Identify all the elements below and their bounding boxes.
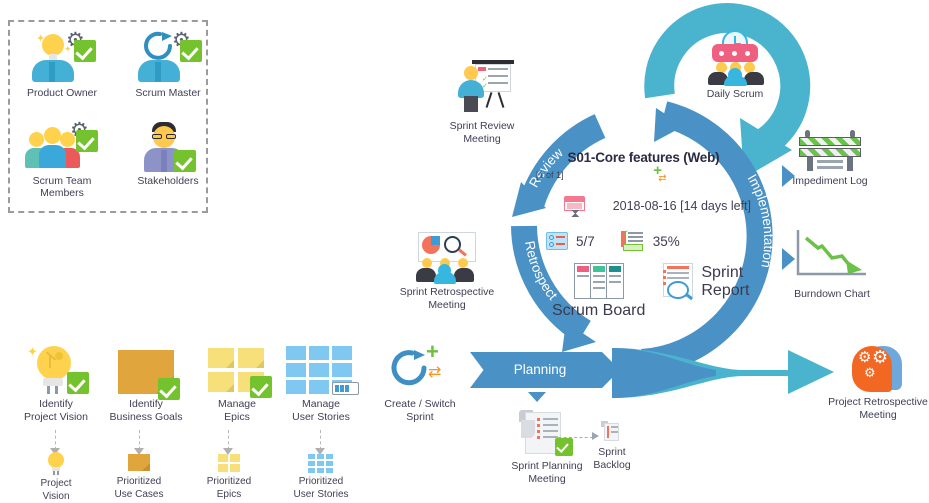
head-gears-icon: ⚙ ⚙ ⚙ — [850, 344, 906, 394]
role-stakeholders[interactable]: Stakeholders — [118, 120, 218, 187]
artifact-prioritized-use-cases[interactable]: Prioritized Use Cases — [88, 452, 190, 501]
planning-banner[interactable]: Planning — [470, 352, 620, 388]
small-lightbulb-icon — [41, 452, 71, 476]
status-check-badge — [74, 40, 96, 62]
planning-doc-icon — [517, 408, 577, 458]
scrum-board-node[interactable]: Scrum Board — [552, 263, 645, 320]
scrum-process-diagram: ✦ ✦ ⚙ Product Owner ⚙ Scrum Master — [0, 0, 929, 497]
scrum-master-icon: ⚙ — [130, 28, 206, 84]
scrum-team-members-icon: ⚙ — [24, 120, 100, 172]
artifact-prioritized-epics[interactable]: Prioritized Epics — [180, 452, 278, 501]
planning-down-arrow — [528, 392, 546, 402]
artifact-label: Prioritized User Stories — [270, 476, 372, 501]
backlog-step-identify-business-goals[interactable]: Identify Business Goals — [95, 344, 197, 423]
progress-badge — [332, 382, 359, 395]
user-stories-grid-icon — [282, 344, 360, 396]
sprint-info-panel: S01-Core features (Web) [1 of 1] + ⇄ 201… — [536, 150, 751, 320]
backlog-step-label: Identify Business Goals — [95, 398, 197, 423]
sticky-note-icon — [110, 344, 182, 396]
backlog-step-label: Manage User Stories — [270, 398, 372, 423]
artifact-label: Prioritized Use Cases — [88, 476, 190, 501]
impediment-log-node[interactable]: Impediment Log — [775, 130, 885, 188]
status-check-badge — [67, 372, 89, 394]
sprint-date-row: 2018-08-16 [14 days left] — [536, 195, 751, 217]
sprint-backlog-icon — [599, 420, 625, 444]
sprint-retrospective-meeting-label: Sprint Retrospective Meeting — [388, 286, 506, 311]
sprint-review-meeting-label: Sprint Review Meeting — [430, 120, 534, 145]
status-check-badge — [158, 378, 180, 400]
role-label: Scrum Team Members — [12, 175, 112, 199]
status-check-badge — [76, 130, 98, 152]
sprint-backlog-label: Sprint Backlog — [580, 446, 644, 471]
project-retrospective-meeting-node[interactable]: ⚙ ⚙ ⚙ Project Retrospective Meeting — [828, 344, 928, 421]
presentation-icon: ✓ ✓ — [450, 58, 514, 118]
small-epics-icon — [216, 452, 242, 474]
role-scrum-master[interactable]: ⚙ Scrum Master — [118, 28, 218, 99]
progress-report-icon: ✓ — [621, 231, 645, 251]
status-check-badge — [174, 150, 196, 172]
add-switch-sprint-icon[interactable]: + ⇄ — [651, 167, 669, 183]
sprint-title: S01-Core features (Web) — [536, 150, 751, 165]
task-list-icon — [546, 232, 568, 250]
scrum-board-label: Scrum Board — [552, 302, 645, 320]
barrier-icon — [797, 130, 863, 172]
sprint-progress: 35% — [653, 234, 680, 249]
calendar-icon — [564, 195, 586, 217]
sprint-retrospective-meeting-node[interactable]: Sprint Retrospective Meeting — [388, 232, 506, 311]
product-owner-icon: ✦ ✦ ⚙ — [24, 28, 100, 84]
sprint-review-meeting-node[interactable]: ✓ ✓ Sprint Review Meeting — [430, 58, 534, 145]
role-product-owner[interactable]: ✦ ✦ ⚙ Product Owner — [12, 28, 112, 99]
backlog-step-label: Identify Project Vision — [6, 398, 106, 423]
role-scrum-team-members[interactable]: ⚙ Scrum Team Members — [12, 120, 112, 199]
epics-notes-icon — [202, 344, 272, 396]
flow-connector — [320, 430, 321, 450]
small-note-icon — [126, 452, 152, 474]
backlog-step-label: Create / Switch Sprint — [368, 398, 472, 423]
switch-sprint-icon: + ⇄ — [386, 344, 454, 396]
sprint-tasks-row: 5/7 — [546, 231, 595, 251]
sprint-report-label: Sprint Report — [701, 264, 749, 300]
burndown-chart-label: Burndown Chart — [778, 288, 886, 301]
role-label: Product Owner — [12, 87, 112, 99]
flow-connector — [139, 430, 140, 450]
sprint-progress-row: ✓ 35% — [621, 231, 680, 251]
scrum-board-icon — [574, 263, 624, 299]
flow-connector — [228, 430, 229, 450]
artifact-label: Prioritized Epics — [180, 476, 278, 501]
backlog-step-create-switch-sprint[interactable]: + ⇄ Create / Switch Sprint — [368, 344, 472, 423]
daily-scrum-label: Daily Scrum — [680, 88, 790, 101]
stakeholders-icon — [130, 120, 206, 172]
sprint-date: 2018-08-16 [14 days left] — [613, 199, 751, 213]
sprint-count: [1 of 1] — [536, 170, 564, 180]
lightbulb-icon: ✦ ✦ — [21, 344, 91, 396]
impediment-log-label: Impediment Log — [775, 175, 885, 188]
status-check-badge — [180, 40, 202, 62]
artifact-prioritized-user-stories[interactable]: Prioritized User Stories — [270, 452, 372, 501]
backlog-step-identify-project-vision[interactable]: ✦ ✦ Identify Project Vision — [6, 344, 106, 423]
project-end-arrow — [612, 340, 852, 402]
burndown-chart-node[interactable]: Burndown Chart — [778, 228, 886, 301]
sprint-report-node[interactable]: Sprint Report — [659, 263, 749, 301]
role-label: Stakeholders — [118, 175, 218, 187]
backlog-step-manage-user-stories[interactable]: Manage User Stories — [270, 344, 372, 423]
planning-label: Planning — [470, 352, 610, 388]
sprint-backlog-node[interactable]: Sprint Backlog — [580, 420, 644, 471]
sprint-tasks: 5/7 — [576, 234, 595, 249]
project-retrospective-meeting-label: Project Retrospective Meeting — [828, 396, 928, 421]
daily-scrum-node[interactable]: Daily Scrum — [680, 30, 790, 101]
status-check-badge — [250, 376, 272, 398]
flow-connector — [55, 430, 56, 450]
daily-scrum-icon — [700, 30, 770, 86]
sprint-report-icon — [659, 263, 695, 301]
retrospective-board-icon — [410, 232, 484, 284]
status-check-badge — [555, 438, 573, 456]
role-label: Scrum Master — [118, 87, 218, 99]
small-grid-icon — [306, 452, 336, 474]
burndown-chart-icon — [792, 228, 872, 282]
